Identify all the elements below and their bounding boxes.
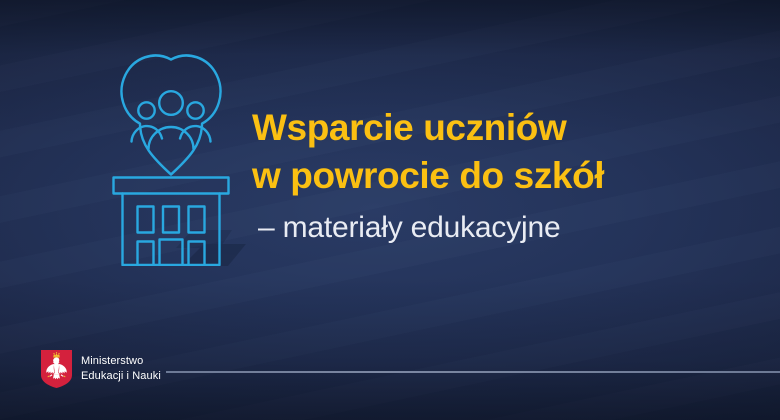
polish-eagle-crest-icon — [41, 350, 72, 388]
ministry-name-line-2: Edukacji i Nauki — [81, 369, 161, 384]
headline-line-1: Wsparcie uczniów — [252, 104, 604, 152]
page-title: Wsparcie uczniów w powrocie do szkół — [252, 104, 604, 200]
ministry-name-line-1: Ministerstwo — [81, 354, 161, 369]
banner-footer: Ministerstwo Edukacji i Nauki — [0, 342, 780, 420]
page-subtitle: – materiały edukacyjne — [258, 210, 604, 246]
school-location-pin-illustration — [96, 54, 248, 266]
headline-line-2: w powrocie do szkół — [252, 152, 604, 200]
ministry-name: Ministerstwo Edukacji i Nauki — [81, 354, 161, 384]
footer-divider — [166, 371, 780, 373]
education-campaign-banner: Wsparcie uczniów w powrocie do szkół – m… — [0, 0, 780, 420]
ministry-logo-lockup: Ministerstwo Edukacji i Nauki — [41, 350, 161, 388]
headline-block: Wsparcie uczniów w powrocie do szkół – m… — [252, 104, 604, 246]
building-shadow — [176, 230, 246, 266]
